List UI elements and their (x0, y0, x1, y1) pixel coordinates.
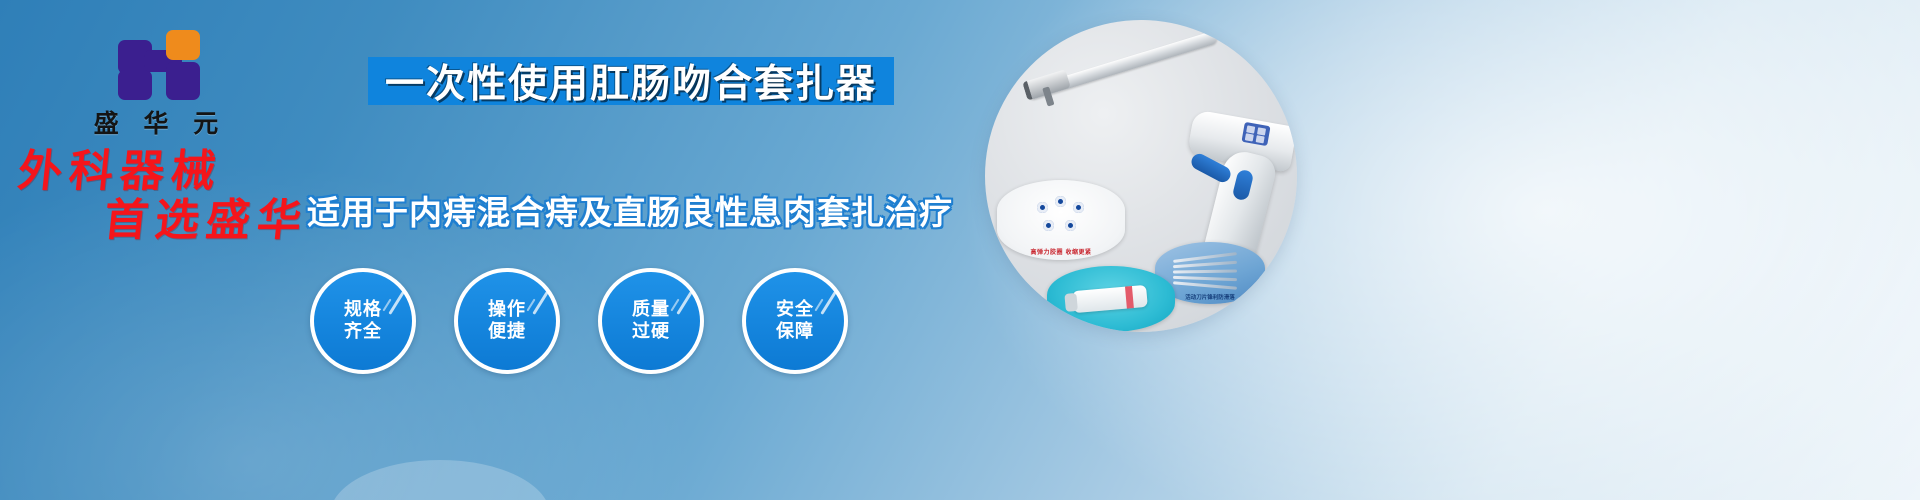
badge-3-line-2: 过硬 (632, 321, 670, 344)
feature-badge-1[interactable]: 规格 齐全 (310, 268, 416, 374)
slogan-calligraphy: 外科器械 首选盛华 (18, 150, 348, 244)
brand-name: 盛 华 元 (60, 104, 260, 140)
badge-4-line-2: 保障 (776, 321, 814, 344)
badge-1-line-1: 规格 (344, 299, 382, 322)
badge-2-line-1: 操作 (488, 299, 526, 322)
inset-rings-caption: 高弹力胶圈 收缩更紧 (997, 247, 1125, 256)
badge-sheen-icon (820, 291, 836, 315)
promo-banner: 盛 华 元 外科器械 首选盛华 一次性使用肛肠吻合套扎器 适用于内痔混合痔及直肠… (0, 0, 1920, 500)
brand-logo[interactable]: 盛 华 元 (60, 22, 260, 140)
cylinder-body (1072, 285, 1148, 313)
feature-badge-4[interactable]: 安全 保障 (742, 268, 848, 374)
inset-photo-rings: 高弹力胶圈 收缩更紧 (997, 180, 1125, 260)
logo-mark-icon (114, 22, 206, 100)
inset-photo-cylinder (1047, 266, 1175, 332)
badge-2-line-2: 便捷 (488, 321, 526, 344)
page-subtitle: 适用于内痔混合痔及直肠良性息肉套扎治疗 (300, 186, 960, 234)
device-keypad (1241, 122, 1270, 146)
feature-badges: 规格 齐全 操作 便捷 质量 过硬 安全 保障 (310, 268, 848, 374)
page-title: 一次性使用肛肠吻合套扎器 (368, 52, 894, 110)
badge-3-line-1: 质量 (632, 299, 670, 322)
badge-4-line-1: 安全 (776, 299, 814, 322)
badge-sheen-icon (388, 291, 404, 315)
product-photo: 高弹力胶圈 收缩更紧 活动刀片锋利防滑落 (985, 20, 1297, 332)
feature-badge-2[interactable]: 操作 便捷 (454, 268, 560, 374)
badge-sheen-icon (532, 291, 548, 315)
feature-badge-3[interactable]: 质量 过硬 (598, 268, 704, 374)
background-arc (330, 460, 550, 500)
badge-1-line-2: 齐全 (344, 321, 382, 344)
badge-sheen-icon (676, 291, 692, 315)
